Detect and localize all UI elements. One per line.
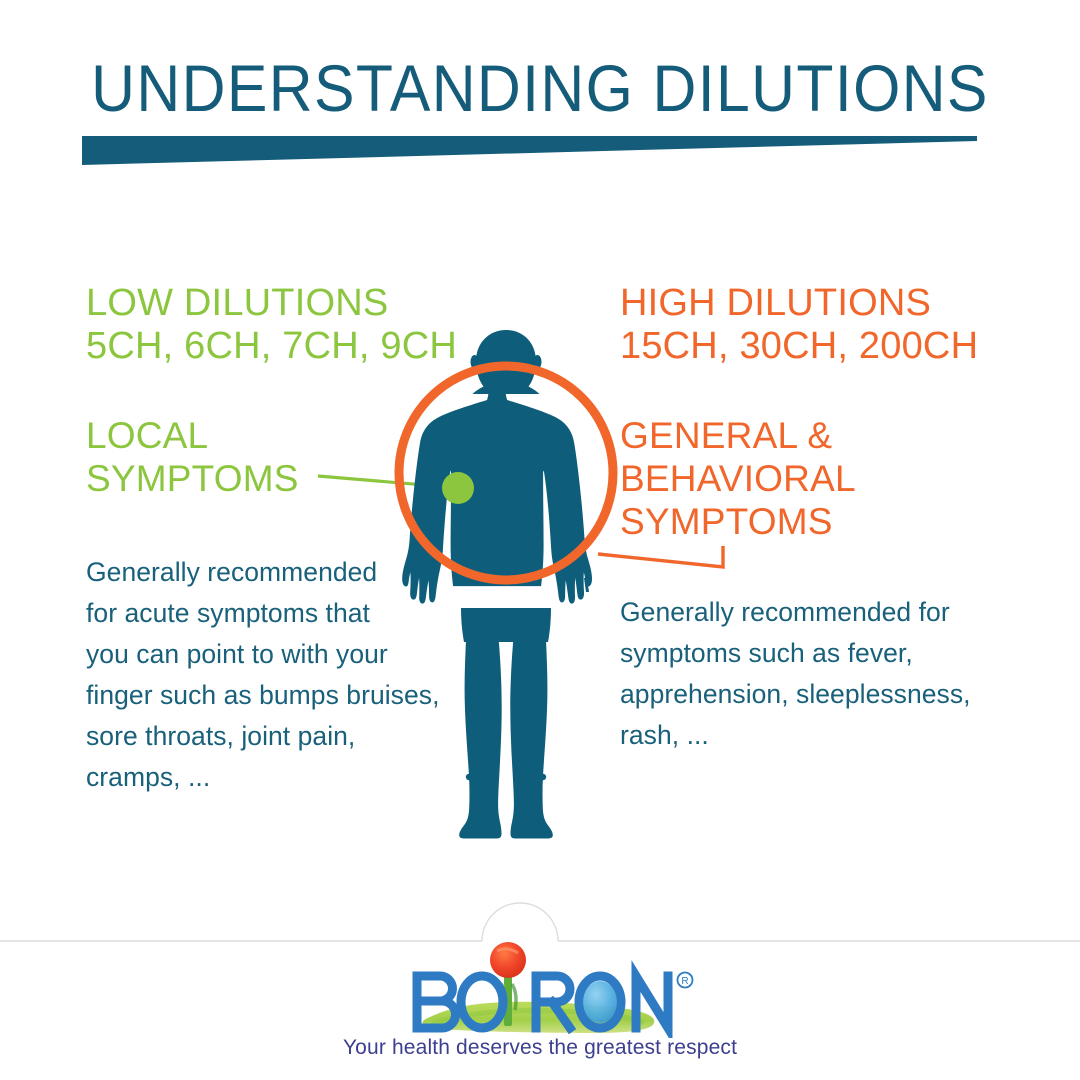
high-dilutions-heading: HIGH DILUTIONS 15CH, 30CH, 200CH: [620, 282, 978, 368]
page-title: UNDERSTANDING DILUTIONS: [43, 52, 1037, 124]
boiron-logo[interactable]: R: [0, 938, 1080, 1038]
green-leader-line: [318, 476, 460, 488]
svg-text:R: R: [681, 976, 688, 987]
right-hand-fingers: [577, 578, 589, 595]
orange-leader-line: [598, 546, 723, 567]
blue-circle-fill: [583, 981, 617, 1023]
right-foot-toes: [518, 774, 547, 783]
general-behavioral-symptoms-heading: GENERAL & BEHAVIORAL SYMPTOMS: [620, 414, 856, 543]
infographic-page: UNDERSTANDING DILUTIONS LOW DILUTIONS 5C…: [0, 0, 1080, 1080]
boiron-logo-art: R: [0, 938, 1080, 1038]
flower-bloom-icon: [490, 942, 526, 978]
local-symptoms-heading: LOCAL SYMPTOMS: [86, 414, 299, 500]
brand-tagline: Your health deserves the greatest respec…: [0, 1036, 1080, 1060]
footer: R Your health deserves the greatest resp…: [0, 900, 1080, 1080]
title-underline-wedge: [82, 136, 977, 170]
low-dilutions-heading: LOW DILUTIONS 5CH, 6CH, 7CH, 9CH: [86, 282, 457, 368]
orange-highlight-circle: [399, 366, 613, 580]
title-block: UNDERSTANDING DILUTIONS: [0, 52, 1080, 172]
local-symptoms-description: Generally recommended for acute symptoms…: [86, 552, 486, 798]
green-local-symptom-dot: [442, 472, 474, 504]
registered-mark-icon: R: [678, 973, 693, 988]
general-symptoms-description: Generally recommended for symptoms such …: [620, 592, 1020, 756]
